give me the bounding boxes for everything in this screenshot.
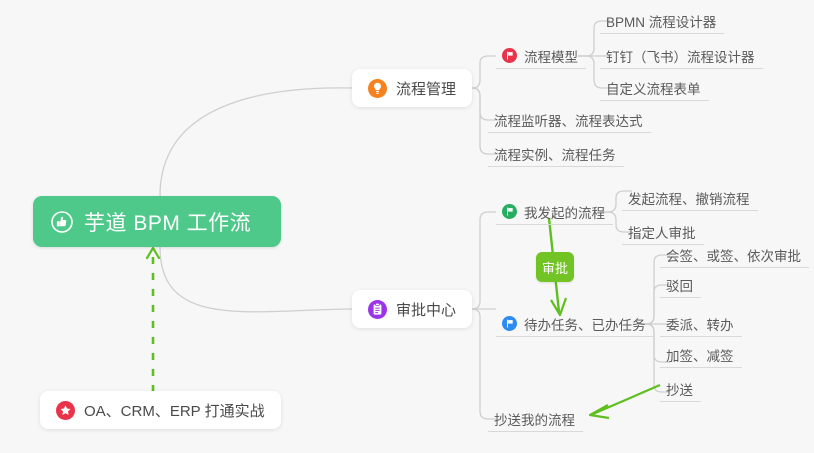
node-label: 指定人审批 [628, 222, 696, 242]
node-label: 流程实例、流程任务 [494, 144, 616, 164]
node-label: 抄送 [666, 379, 693, 399]
leaf-delegate-transfer[interactable]: 委派、转办 [660, 311, 742, 337]
flag-icon [502, 316, 517, 331]
node-label: 自定义流程表单 [606, 78, 701, 98]
node-label: BPMN 流程设计器 [606, 11, 716, 31]
node-flow-instance[interactable]: 流程实例、流程任务 [488, 141, 624, 167]
root-node[interactable]: 芋道 BPM 工作流 [33, 196, 281, 247]
node-cc-to-me[interactable]: 抄送我的流程 [488, 406, 583, 432]
branch-label: 审批中心 [396, 299, 456, 320]
leaf-add-remove-sign[interactable]: 加签、减签 [660, 342, 742, 368]
lightbulb-icon [368, 79, 387, 98]
callout-oa-crm-erp[interactable]: OA、CRM、ERP 打通实战 [40, 391, 281, 429]
branch-flow-management[interactable]: 流程管理 [352, 69, 472, 107]
node-flow-model[interactable]: 流程模型 [496, 43, 586, 69]
node-label: 待办任务、已办任务 [524, 314, 646, 334]
node-todo-done-tasks[interactable]: 待办任务、已办任务 [496, 311, 654, 337]
node-label: 流程模型 [524, 46, 578, 66]
node-label: 钉钉（飞书）流程设计器 [606, 46, 755, 66]
leaf-start-cancel-flow[interactable]: 发起流程、撤销流程 [622, 185, 758, 211]
clipboard-icon [368, 300, 387, 319]
branch-approval-center[interactable]: 审批中心 [352, 290, 472, 328]
root-label: 芋道 BPM 工作流 [84, 207, 251, 237]
leaf-cc[interactable]: 抄送 [660, 376, 701, 402]
node-my-initiated[interactable]: 我发起的流程 [496, 199, 613, 225]
leaf-dingtalk-designer[interactable]: 钉钉（飞书）流程设计器 [600, 43, 763, 69]
leaf-reject[interactable]: 驳回 [660, 272, 701, 298]
node-label: 抄送我的流程 [494, 409, 575, 429]
node-label: 加签、减签 [666, 345, 734, 365]
flag-icon [502, 204, 517, 219]
leaf-countersign[interactable]: 会签、或签、依次审批 [660, 242, 809, 268]
mindmap-canvas: 芋道 BPM 工作流 流程管理 流程模型 BPMN 流程设计器 钉钉（飞书）流程… [0, 0, 814, 453]
node-label: 我发起的流程 [524, 202, 605, 222]
node-flow-listener[interactable]: 流程监听器、流程表达式 [488, 107, 651, 133]
leaf-custom-form[interactable]: 自定义流程表单 [600, 75, 709, 101]
approval-badge: 审批 [536, 252, 574, 282]
callout-label: OA、CRM、ERP 打通实战 [84, 400, 265, 421]
node-label: 会签、或签、依次审批 [666, 245, 801, 265]
leaf-bpmn-designer[interactable]: BPMN 流程设计器 [600, 8, 724, 34]
flag-icon [502, 48, 517, 63]
star-icon [56, 401, 75, 420]
branch-label: 流程管理 [396, 78, 456, 99]
node-label: 委派、转办 [666, 314, 734, 334]
node-label: 发起流程、撤销流程 [628, 188, 750, 208]
node-label: 驳回 [666, 275, 693, 295]
thumbs-up-icon [51, 211, 73, 233]
node-label: 流程监听器、流程表达式 [494, 110, 643, 130]
